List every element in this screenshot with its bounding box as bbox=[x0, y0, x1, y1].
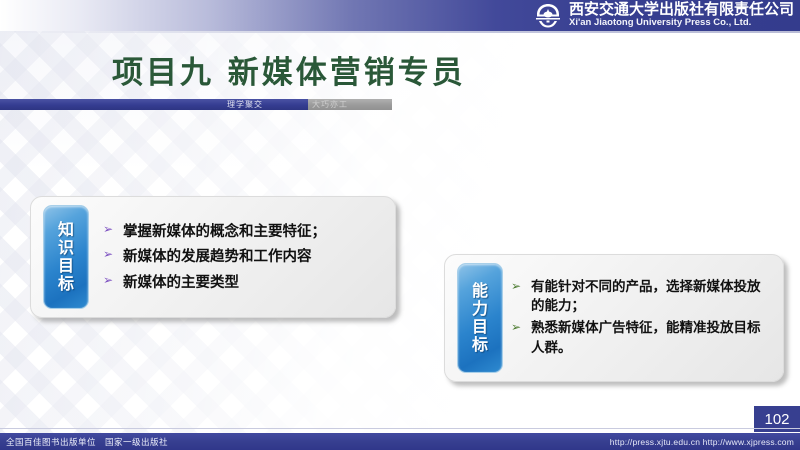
xjtu-press-emblem-icon bbox=[533, 1, 563, 29]
footer-credential-text: 全国百佳图书出版单位 国家一级出版社 bbox=[6, 436, 168, 448]
knowledge-objectives-box: 知 识 目 标 ➢ 掌握新媒体的概念和主要特征； ➢ 新媒体的发展趋势和工作内容… bbox=[30, 196, 396, 318]
footer-bar: 全国百佳图书出版单位 国家一级出版社 http://press.xjtu.edu… bbox=[0, 433, 800, 450]
rule-tag-gray: 大巧亦工 bbox=[312, 99, 348, 110]
tab-char: 能 bbox=[472, 282, 488, 300]
slide-canvas: 西安交通大学出版社有限责任公司 Xi'an Jiaotong Universit… bbox=[0, 0, 800, 450]
publisher-logo: 西安交通大学出版社有限责任公司 Xi'an Jiaotong Universit… bbox=[533, 1, 794, 29]
tab-char: 目 bbox=[472, 318, 488, 336]
arrow-bullet-icon: ➢ bbox=[103, 246, 116, 263]
arrow-bullet-icon: ➢ bbox=[511, 319, 524, 336]
tab-char: 标 bbox=[472, 336, 488, 354]
title-accent-rule: 理学聚交 大巧亦工 bbox=[0, 99, 800, 110]
tab-char: 目 bbox=[58, 257, 74, 275]
arrow-bullet-icon: ➢ bbox=[103, 272, 116, 289]
knowledge-objectives-list: ➢ 掌握新媒体的概念和主要特征； ➢ 新媒体的发展趋势和工作内容 ➢ 新媒体的主… bbox=[103, 205, 385, 309]
list-item: ➢ 熟悉新媒体广告特征，能精准投放目标人群。 bbox=[511, 319, 773, 358]
list-item-text: 新媒体的发展趋势和工作内容 bbox=[123, 246, 312, 267]
list-item-text: 新媒体的主要类型 bbox=[123, 272, 239, 293]
arrow-bullet-icon: ➢ bbox=[103, 221, 116, 238]
rule-tag-navy: 理学聚交 bbox=[227, 99, 263, 110]
brand-name-en: Xi'an Jiaotong University Press Co., Ltd… bbox=[569, 18, 794, 28]
ability-objectives-list: ➢ 有能针对不同的产品，选择新媒体投放的能力； ➢ 熟悉新媒体广告特征，能精准投… bbox=[511, 263, 773, 373]
list-item: ➢ 新媒体的发展趋势和工作内容 bbox=[103, 246, 385, 267]
tab-char: 知 bbox=[58, 221, 74, 239]
list-item-text: 熟悉新媒体广告特征，能精准投放目标人群。 bbox=[531, 319, 773, 358]
ability-objectives-box: 能 力 目 标 ➢ 有能针对不同的产品，选择新媒体投放的能力； ➢ 熟悉新媒体广… bbox=[444, 254, 784, 382]
knowledge-objectives-tab: 知 识 目 标 bbox=[43, 205, 89, 309]
footer-divider bbox=[0, 428, 800, 429]
footer-website-links[interactable]: http://press.xjtu.edu.cn http://www.xjpr… bbox=[610, 437, 794, 447]
tab-char: 力 bbox=[472, 300, 488, 318]
list-item: ➢ 有能针对不同的产品，选择新媒体投放的能力； bbox=[511, 278, 773, 317]
list-item: ➢ 新媒体的主要类型 bbox=[103, 272, 385, 293]
brand-name-cn: 西安交通大学出版社有限责任公司 bbox=[569, 2, 794, 17]
tab-char: 标 bbox=[58, 275, 74, 293]
tab-char: 识 bbox=[58, 239, 74, 257]
list-item: ➢ 掌握新媒体的概念和主要特征； bbox=[103, 221, 385, 242]
slide-title: 项目九 新媒体营销专员 bbox=[112, 47, 466, 92]
list-item-text: 有能针对不同的产品，选择新媒体投放的能力； bbox=[531, 278, 773, 317]
list-item-text: 掌握新媒体的概念和主要特征； bbox=[123, 221, 326, 242]
header-underline bbox=[0, 31, 800, 33]
ability-objectives-tab: 能 力 目 标 bbox=[457, 263, 503, 373]
arrow-bullet-icon: ➢ bbox=[511, 278, 524, 295]
